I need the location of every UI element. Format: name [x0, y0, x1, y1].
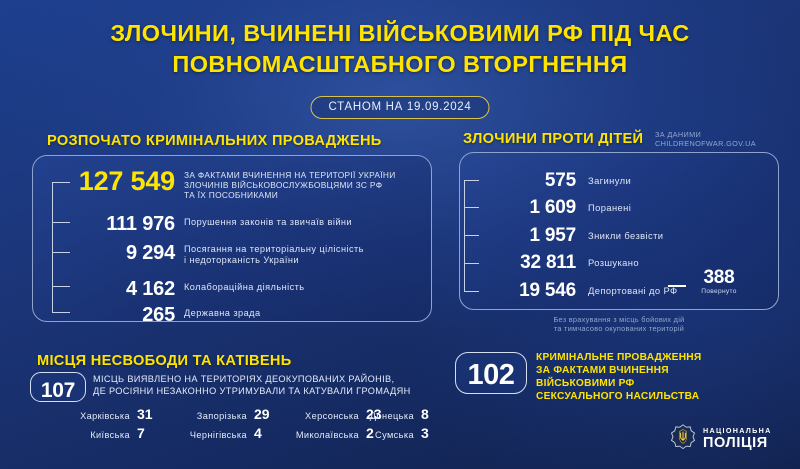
stat-row: 265 Державна зрада	[70, 305, 425, 325]
police-emblem-icon	[670, 424, 696, 453]
stat-row: 9 294 Посягання на територіальну цілісні…	[70, 243, 425, 267]
region-name: Миколаївська	[296, 430, 359, 440]
logo-main-line: ПОЛІЦІЯ	[703, 435, 772, 451]
title-line-1: ЗЛОЧИНИ, ВЧИНЕНІ ВІЙСЬКОВИМИ РФ ПІД ЧАС	[0, 18, 800, 49]
bracket-spine	[52, 182, 53, 312]
stat-label: Державна зрада	[184, 308, 261, 319]
region-row: Харківська 31 Запорізька 29 Херсонська 2…	[28, 406, 440, 425]
stat-value: 127 549	[70, 168, 175, 195]
bracket-tick	[464, 180, 479, 181]
stat-label: Порушення законів та звичаїв війни	[184, 217, 352, 228]
bracket-tick	[464, 291, 479, 292]
region-cell: Сумська 3	[385, 425, 440, 441]
region-cell: Чернігівська 4	[156, 425, 273, 441]
region-value: 31	[137, 406, 156, 422]
region-value: 29	[254, 406, 273, 422]
region-name: Чернігівська	[190, 430, 247, 440]
infographic-canvas: ЗЛОЧИНИ, ВЧИНЕНІ ВІЙСЬКОВИМИ РФ ПІД ЧАС …	[0, 0, 800, 469]
stat-row: 4 162 Колабораційна діяльність	[70, 279, 425, 299]
children-source-note: ЗА ДАНИМИ CHILDRENOFWAR.GOV.UA	[655, 130, 756, 149]
bracket-tick	[52, 182, 70, 183]
region-cell: Донецька 8	[385, 406, 440, 422]
region-value: 3	[421, 425, 440, 441]
bracket-tick	[464, 263, 479, 264]
stat-row: 19 546 Депортовані до РФ	[478, 281, 678, 300]
returned-children-group: 388 Повернуто	[688, 268, 750, 295]
stat-value: 9 294	[70, 243, 175, 263]
bracket-tick	[52, 222, 70, 223]
region-value: 4	[254, 425, 273, 441]
stat-label: Депортовані до РФ	[588, 285, 678, 296]
logo-text-block: НАЦІОНАЛЬНА ПОЛІЦІЯ	[703, 427, 772, 451]
bracket-tick	[464, 207, 479, 208]
region-name: Херсонська	[305, 411, 359, 421]
stat-label: ЗА ФАКТАМИ ВЧИНЕННЯ НА ТЕРИТОРІЇ УКРАЇНИ…	[184, 170, 396, 201]
sexual-violence-count-badge: 102	[455, 352, 527, 394]
stat-row: 32 811 Розшукано	[478, 253, 639, 272]
regions-grid: Харківська 31 Запорізька 29 Херсонська 2…	[28, 406, 440, 444]
stat-label: Розшукано	[588, 257, 639, 268]
stat-row: 575 Загинули	[478, 171, 631, 190]
bracket-tick	[464, 235, 479, 236]
returned-connector	[668, 285, 686, 287]
region-cell: Київська 7	[28, 425, 156, 441]
detention-description: МІСЦЬ ВИЯВЛЕНО НА ТЕРИТОРІЯХ ДЕОКУПОВАНИ…	[93, 373, 438, 397]
stat-row: 1 957 Зникли безвісти	[478, 226, 663, 245]
region-name: Київська	[90, 430, 130, 440]
national-police-logo: НАЦІОНАЛЬНА ПОЛІЦІЯ	[670, 424, 772, 453]
stat-label: Поранені	[588, 202, 631, 213]
bracket-tick	[52, 252, 70, 253]
bracket-tick	[52, 312, 70, 313]
stat-row: 127 549 ЗА ФАКТАМИ ВЧИНЕННЯ НА ТЕРИТОРІЇ…	[70, 168, 425, 201]
stat-value: 575	[478, 171, 576, 190]
stat-label: Загинули	[588, 175, 631, 186]
region-name: Запорізька	[197, 411, 247, 421]
title-line-2: ПОВНОМАСШТАБНОГО ВТОРГНЕННЯ	[0, 49, 800, 80]
date-badge: СТАНОМ НА 19.09.2024	[311, 96, 490, 119]
logo-top-line: НАЦІОНАЛЬНА	[703, 427, 772, 435]
stat-row: 1 609 Поранені	[478, 198, 631, 217]
region-cell: Харківська 31	[28, 406, 156, 422]
stat-value: 1 957	[478, 226, 576, 245]
stat-value: 19 546	[478, 281, 576, 300]
detention-count-badge: 107	[30, 372, 86, 402]
region-row: Київська 7 Чернігівська 4 Миколаївська 2…	[28, 425, 440, 444]
criminal-bracket	[52, 182, 70, 312]
detention-section-heading: МІСЦЯ НЕСВОБОДИ ТА КАТІВЕНЬ	[37, 353, 292, 369]
sexual-violence-description: КРИМІНАЛЬНЕ ПРОВАДЖЕННЯ ЗА ФАКТАМИ ВЧИНЕ…	[536, 351, 796, 403]
stat-value: 1 609	[478, 198, 576, 217]
region-cell: Херсонська 23	[273, 406, 385, 422]
region-value: 7	[137, 425, 156, 441]
criminal-section-heading: РОЗПОЧАТО КРИМІНАЛЬНИХ ПРОВАДЖЕНЬ	[47, 133, 382, 149]
stat-label: Зникли безвісти	[588, 230, 663, 241]
returned-value: 388	[688, 268, 750, 288]
region-name: Харківська	[80, 411, 130, 421]
stat-value: 4 162	[70, 279, 175, 299]
stat-label: Колабораційна діяльність	[184, 282, 305, 293]
children-footnote: Без врахування з місць бойових дій та ти…	[459, 315, 779, 334]
children-bracket	[464, 180, 479, 291]
returned-label: Повернуто	[688, 288, 750, 295]
stat-label: Посягання на територіальну цілісність і …	[184, 244, 364, 267]
region-name: Донецька	[370, 411, 414, 421]
bracket-tick	[52, 286, 70, 287]
region-cell: Запорізька 29	[156, 406, 273, 422]
stat-value: 111 976	[70, 214, 175, 234]
region-name: Сумська	[375, 430, 414, 440]
region-cell: Миколаївська 2	[273, 425, 385, 441]
stat-value: 265	[70, 305, 175, 325]
page-title: ЗЛОЧИНИ, ВЧИНЕНІ ВІЙСЬКОВИМИ РФ ПІД ЧАС …	[0, 18, 800, 80]
stat-value: 32 811	[478, 253, 576, 272]
stat-row: 111 976 Порушення законів та звичаїв вій…	[70, 214, 425, 234]
region-value: 8	[421, 406, 440, 422]
children-section-heading: ЗЛОЧИНИ ПРОТИ ДІТЕЙ	[463, 131, 643, 147]
